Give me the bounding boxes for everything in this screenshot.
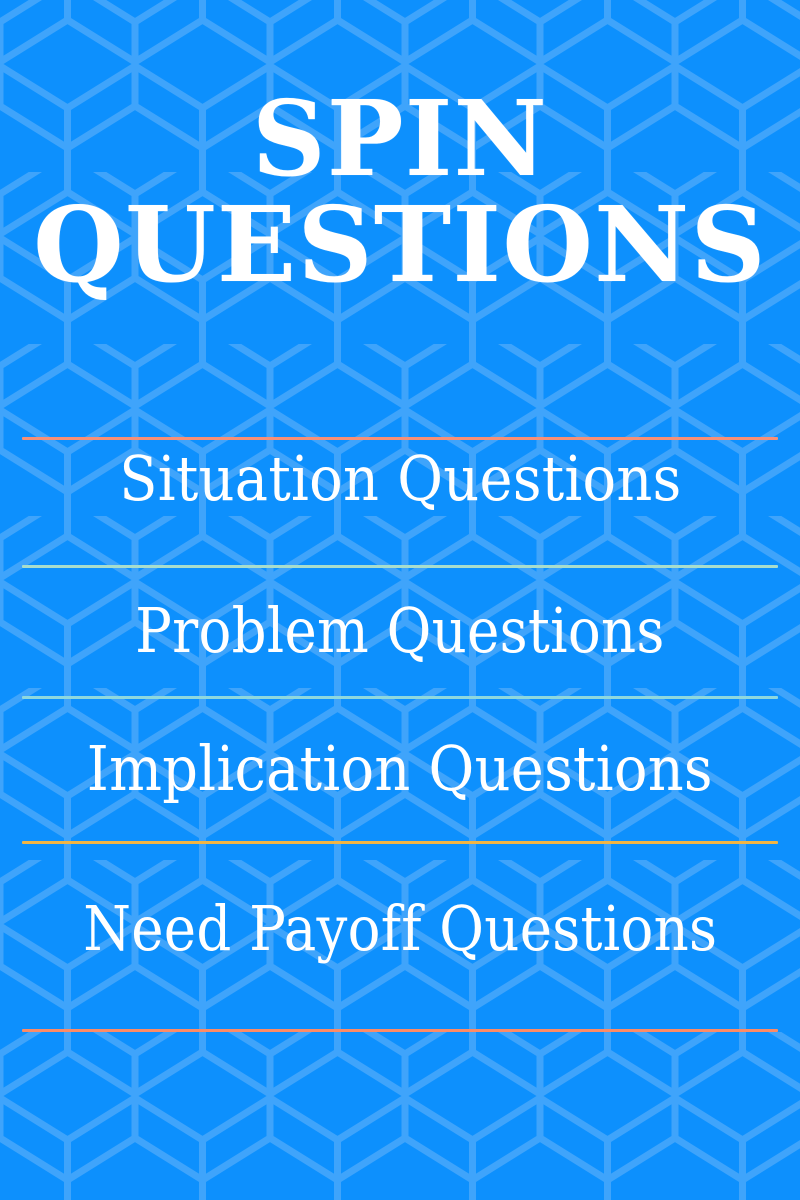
- list-item-implication-questions: Implication Questions: [0, 738, 800, 800]
- list-item-label: Implication Questions: [87, 738, 713, 800]
- title-line-2: QUESTIONS: [0, 194, 800, 296]
- list-item-situation-questions: Situation Questions: [0, 448, 800, 510]
- divider-2: [22, 696, 778, 699]
- divider-top: [22, 437, 778, 440]
- list-item-need-payoff-questions: Need Payoff Questions: [0, 898, 800, 960]
- title-line-1: SPIN: [8, 88, 792, 190]
- list-item-label: Problem Questions: [135, 600, 665, 662]
- list-item-label: Need Payoff Questions: [83, 898, 717, 960]
- list-item-problem-questions: Problem Questions: [0, 600, 800, 662]
- spin-questions-poster: SPIN QUESTIONS Situation Questions Probl…: [0, 0, 800, 1200]
- divider-1: [22, 565, 778, 568]
- poster-title: SPIN QUESTIONS: [0, 88, 800, 296]
- divider-bottom: [22, 1029, 778, 1032]
- list-item-label: Situation Questions: [119, 448, 681, 510]
- divider-3: [22, 841, 778, 844]
